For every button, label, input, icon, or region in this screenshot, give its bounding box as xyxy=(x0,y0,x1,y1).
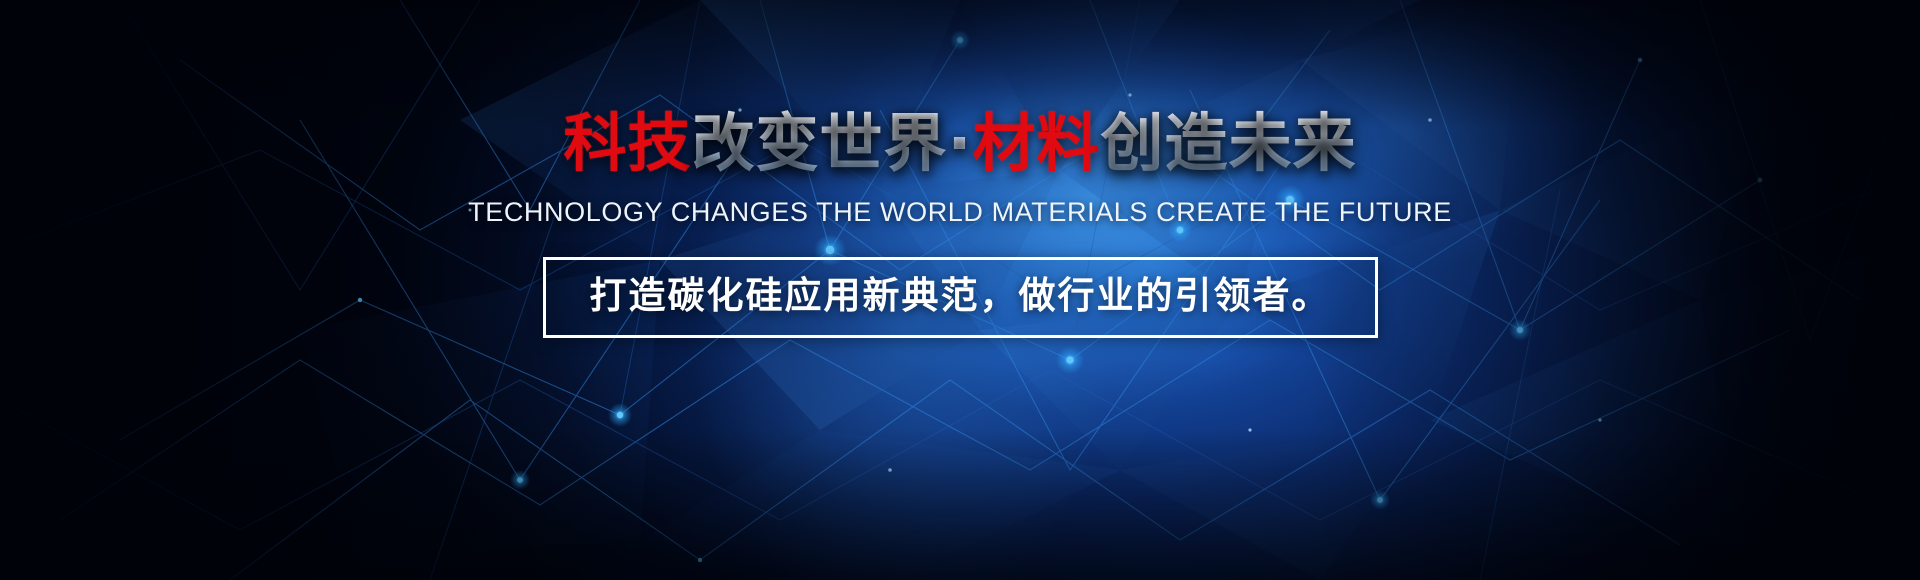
subheadline: TECHNOLOGY CHANGES THE WORLD MATERIALS C… xyxy=(468,197,1452,228)
tagline-box: 打造碳化硅应用新典范，做行业的引领者。 xyxy=(543,257,1378,338)
headline-segment-3: 材料 xyxy=(972,107,1100,180)
banner-content: 科技改变世界·材料创造未来 TECHNOLOGY CHANGES THE WOR… xyxy=(0,0,1920,580)
hero-banner: 科技改变世界·材料创造未来 TECHNOLOGY CHANGES THE WOR… xyxy=(0,0,1920,580)
headline-segment-4: 创造未来 xyxy=(1100,107,1356,180)
tagline-text: 打造碳化硅应用新典范，做行业的引领者。 xyxy=(590,277,1331,316)
headline-segment-2: 改变世界· xyxy=(692,107,973,180)
headline: 科技改变世界·材料创造未来 xyxy=(564,112,1357,175)
headline-segment-1: 科技 xyxy=(564,107,692,180)
